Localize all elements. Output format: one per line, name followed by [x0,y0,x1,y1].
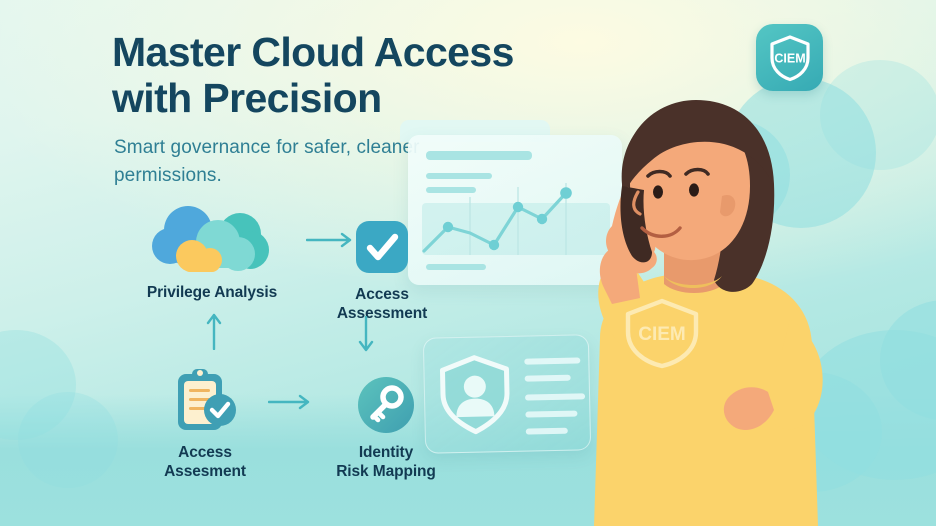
flow-node-privilege-analysis[interactable]: Privilege Analysis [118,196,306,303]
flow-diagram: Privilege Analysis Access Assessment [110,196,458,496]
flow-node-label: Identity Risk Mapping [306,444,466,482]
cloud-cluster-icon [118,196,306,274]
flow-node-label: Access Assessment [306,286,458,324]
flow-node-access-assesment[interactable]: Access Assesment [122,358,288,482]
hero-illustration: Master Cloud Access with Precision Smart… [0,0,936,526]
page-title: Master Cloud Access with Precision [112,29,582,122]
badge-label: CIEM [774,51,805,65]
arrow-assesment-to-identity [268,394,316,415]
flow-node-identity-risk-mapping[interactable]: Identity Risk Mapping [306,360,466,482]
arrow-privilege-to-access [306,232,358,253]
arrow-access-to-identity [358,316,374,361]
flow-node-label: Access Assesment [122,444,288,482]
flow-node-access-assessment[interactable]: Access Assessment [306,200,458,324]
key-circle-icon [306,360,466,434]
page-subtitle: Smart governance for safer, cleaner perm… [114,134,424,190]
shield-icon: CIEM [768,34,812,82]
illustrated-person [560,88,890,526]
arrow-assesment-to-privilege [206,310,222,355]
ciem-badge[interactable]: CIEM [756,24,823,91]
shirt-logo-label: CIEM [638,324,686,345]
clipboard-check-icon [122,358,288,434]
shirt-ciem-logo: CIEM [620,296,704,370]
background-cloud-icon [18,392,118,488]
flow-node-label: Privilege Analysis [118,284,306,303]
